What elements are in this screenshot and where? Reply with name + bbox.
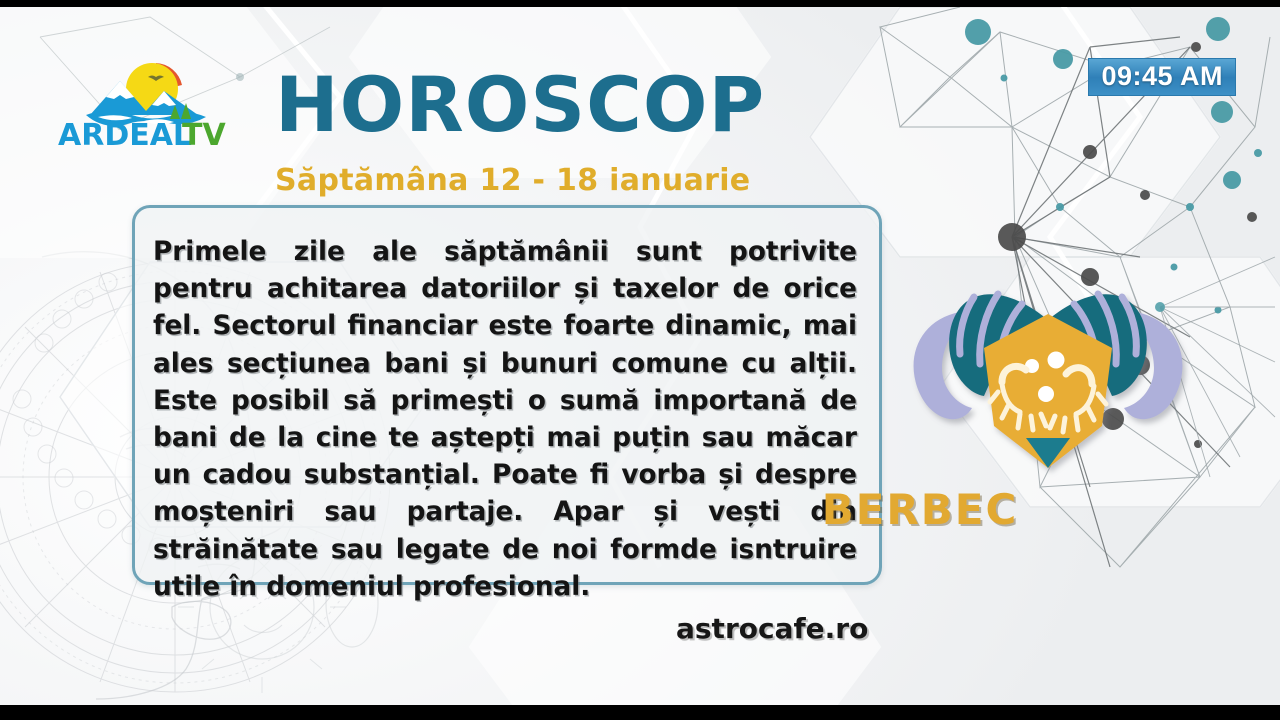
website-credit: astrocafe.ro xyxy=(676,612,868,645)
logo-text-tv: TV xyxy=(182,118,226,149)
broadcast-screen: ARDEAL TV 09:45 AM HOROSCOP Săptămâna 12… xyxy=(0,0,1280,720)
logo-text-ardeal: ARDEAL xyxy=(58,118,192,149)
page-title: HOROSCOP xyxy=(275,67,765,143)
clock-time: 09:45 AM xyxy=(1088,58,1236,96)
graphic-stage: ARDEAL TV 09:45 AM HOROSCOP Săptămâna 12… xyxy=(0,7,1280,705)
ram-dot-center xyxy=(1038,386,1054,402)
horoscope-body-text: Primele zile ale săptămânii sunt potrivi… xyxy=(147,234,863,606)
week-range-subtitle: Săptămâna 12 - 18 ianuarie xyxy=(275,166,750,196)
horoscope-panel: Primele zile ale săptămânii sunt potrivi… xyxy=(132,205,882,585)
ram-dot-right xyxy=(1048,352,1065,369)
aries-ram-icon xyxy=(898,242,1198,487)
letterbox-bar-bottom xyxy=(0,705,1280,720)
ardeal-tv-logo[interactable]: ARDEAL TV xyxy=(48,53,256,149)
letterbox-bar-top xyxy=(0,0,1280,7)
